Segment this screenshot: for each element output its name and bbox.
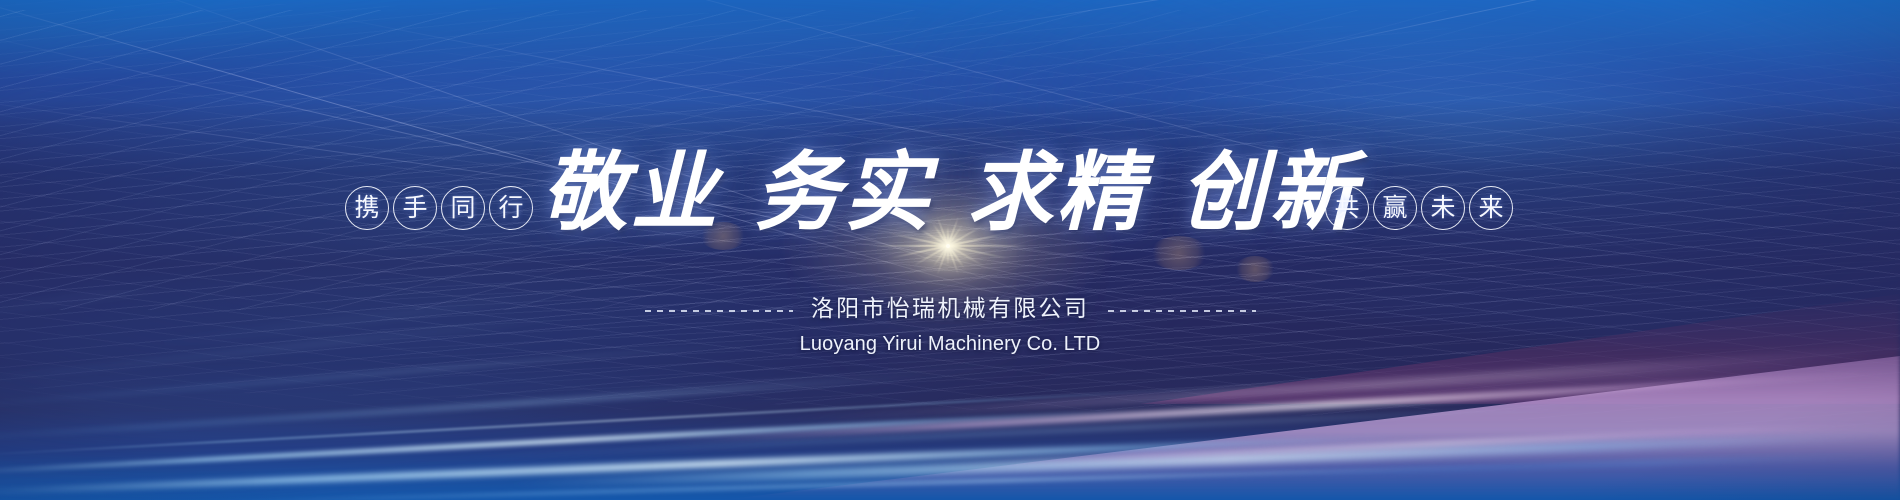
headline-group-2: 务实	[754, 142, 933, 243]
company-name-en: Luoyang Yirui Machinery Co. LTD	[0, 329, 1900, 360]
circled-char-gong: 共	[1325, 186, 1369, 230]
circled-char-lai: 来	[1469, 186, 1513, 230]
company-name-cn: 洛阳市怡瑞机械有限公司	[0, 292, 1900, 327]
headline-calligraphy: 敬业务实求精创新	[0, 122, 1900, 247]
circled-slogan-right: 共 赢 未 来	[1325, 186, 1513, 230]
headline-group-1: 敬业	[541, 142, 720, 243]
circled-char-wei: 未	[1421, 186, 1465, 230]
company-name-block: 洛阳市怡瑞机械有限公司 Luoyang Yirui Machinery Co. …	[0, 292, 1900, 360]
hero-banner: 携 手 同 行 敬业务实求精创新 共 赢 未 来 洛阳市怡瑞机械有限公司 Luo…	[0, 0, 1900, 500]
circled-char-ying: 赢	[1373, 186, 1417, 230]
banner-content: 携 手 同 行 敬业务实求精创新 共 赢 未 来 洛阳市怡瑞机械有限公司 Luo…	[0, 0, 1900, 500]
headline-group-3: 求精	[967, 142, 1146, 243]
